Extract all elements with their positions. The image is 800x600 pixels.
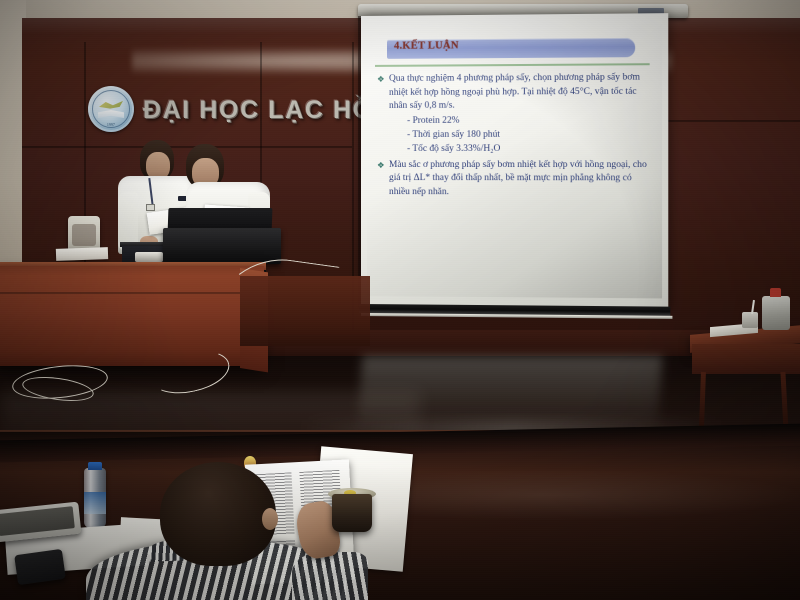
water-bottle-cap: [88, 462, 102, 470]
projection-screen: 4.KẾT LUẬN ❖ Qua thực nghiệm 4 phương ph…: [361, 13, 668, 319]
bullet-text: Qua thực nghiệm 4 phương pháp sấy, chọn …: [389, 72, 640, 111]
laptop: [163, 228, 281, 264]
slide-bullet: ❖ Màu sắc ơ phương pháp sấy bơm nhiệt kế…: [377, 158, 654, 200]
podium-trim-line: [0, 292, 258, 294]
side-table-body: [692, 344, 800, 374]
microphone-base: [135, 252, 163, 262]
slide-sub-item: - Thời gian sấy 180 phút: [407, 128, 654, 142]
presentation-room-photo: 1997 ĐẠI HỌC LẠC HỒNG 4.KẾT LUẬN ❖ Qua t…: [0, 0, 800, 600]
slide-sub-list: - Protein 22% - Thời gian sấy 180 phút -…: [407, 114, 654, 157]
university-seal-icon: 1997: [88, 86, 134, 132]
slide-sub-item: - Protein 22%: [407, 114, 654, 128]
bullet-marker-icon: ❖: [377, 73, 385, 87]
drink-cup: [332, 494, 372, 532]
water-bottle-label: [84, 492, 106, 514]
attendee-head: [160, 462, 276, 566]
slide-title: 4.KẾT LUẬN: [394, 40, 459, 52]
side-table-cup: [742, 312, 758, 328]
slide-bullet: ❖ Qua thực nghiệm 4 phương pháp sấy, chọ…: [377, 71, 654, 113]
screen-surface: 4.KẾT LUẬN ❖ Qua thực nghiệm 4 phương ph…: [361, 13, 668, 311]
projected-slide: 4.KẾT LUẬN ❖ Qua thực nghiệm 4 phương ph…: [367, 23, 662, 298]
podium-papers: [56, 247, 108, 261]
slide-body: ❖ Qua thực nghiệm 4 phương pháp sấy, chọ…: [377, 71, 654, 201]
foreground-desk-sheen: [380, 470, 800, 520]
seal-year: 1997: [88, 123, 134, 127]
attendee-ear: [262, 508, 278, 530]
panel-seam-horizontal: [22, 146, 352, 148]
slide-divider-rule: [375, 63, 650, 66]
bullet-text: Màu sắc ơ phương pháp sấy bơm nhiệt kết …: [389, 159, 647, 196]
bullet-marker-icon: ❖: [377, 159, 385, 173]
attendee-arm: [292, 552, 368, 600]
presenter-left-badge: [146, 204, 155, 211]
slide-sub-item: - Tốc độ sấy 3.33%/H₂O: [407, 143, 654, 157]
side-table-water-jug: [762, 296, 790, 330]
side-table-jug-cap: [770, 288, 781, 297]
